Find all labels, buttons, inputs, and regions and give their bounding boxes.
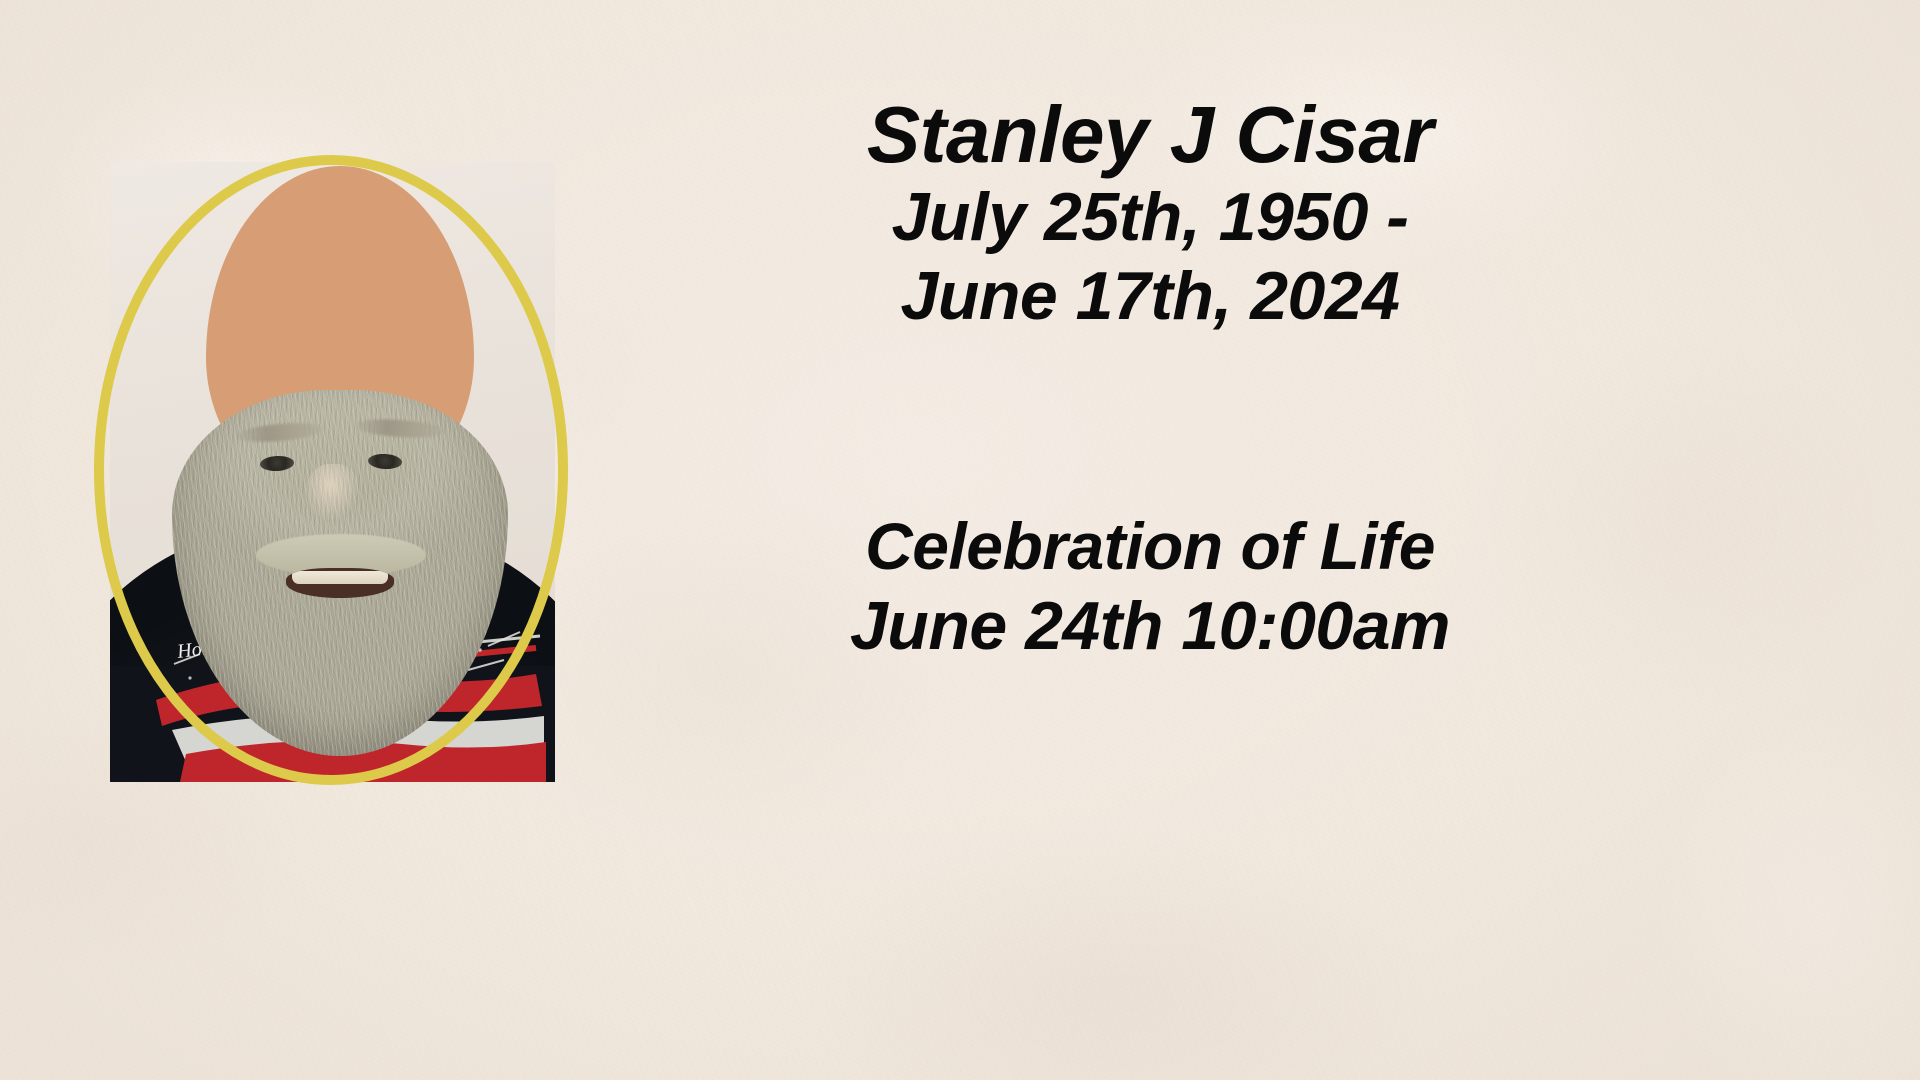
portrait-photo: Home Track bbox=[110, 162, 555, 782]
memorial-block: Stanley J Cisar July 25th, 1950 - June 1… bbox=[700, 92, 1600, 336]
photo-nose bbox=[306, 464, 360, 534]
text-column: Stanley J Cisar July 25th, 1950 - June 1… bbox=[700, 0, 1600, 1080]
date-line-death: June 17th, 2024 bbox=[700, 257, 1600, 336]
service-block: Celebration of Life June 24th 10:00am bbox=[700, 508, 1600, 666]
photo-mouth bbox=[286, 568, 394, 598]
service-datetime: June 24th 10:00am bbox=[700, 586, 1600, 666]
portrait: Home Track bbox=[92, 152, 570, 788]
deceased-name: Stanley J Cisar bbox=[700, 92, 1600, 178]
date-line-birth: July 25th, 1950 - bbox=[700, 178, 1600, 257]
service-heading: Celebration of Life bbox=[700, 508, 1600, 586]
photo-teeth bbox=[292, 571, 388, 584]
memorial-slide: Home Track Stanley J Cisar July 25th, bbox=[0, 0, 1920, 1080]
